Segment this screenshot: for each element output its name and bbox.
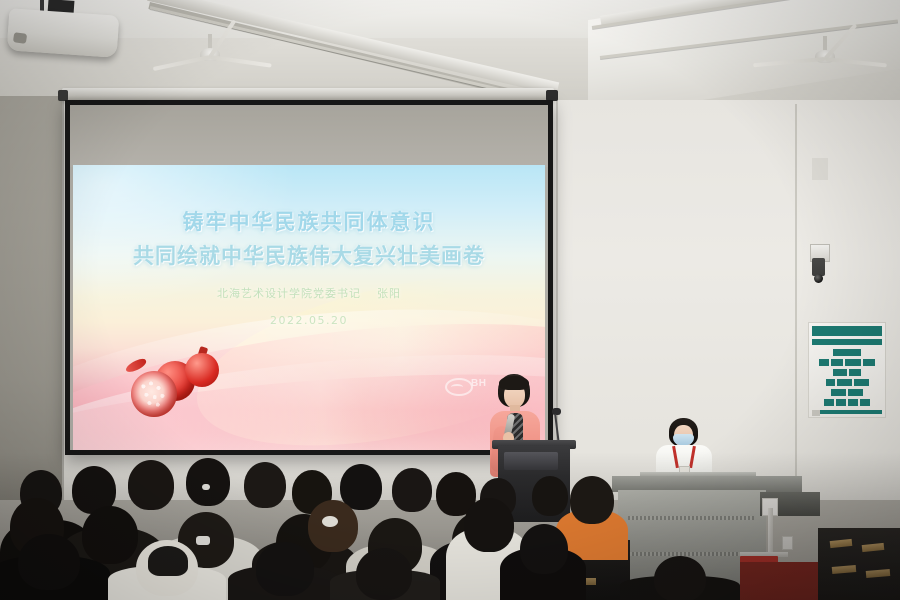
poster-row xyxy=(812,399,882,406)
poster-cell xyxy=(836,399,846,406)
fan-blade xyxy=(753,57,825,67)
left-wall-column xyxy=(0,96,62,500)
wall-notice-small xyxy=(812,158,828,180)
pomegranate-whole xyxy=(185,353,219,387)
projection-screen: 铸牢中华民族共同体意识 共同绘就中华民族伟大复兴壮美画卷 北海艺术设计学院党委书… xyxy=(65,100,553,455)
poster-cell xyxy=(824,399,834,406)
slide-presenter-org: 北海艺术设计学院党委书记 xyxy=(217,287,361,300)
wall-seam-left xyxy=(62,96,64,500)
poster-title-band xyxy=(812,326,882,336)
poster-row xyxy=(812,389,882,396)
slide-logo-oval-icon xyxy=(445,378,473,396)
audience-head xyxy=(18,534,80,590)
ceiling-projector xyxy=(7,8,120,58)
audience-head xyxy=(244,462,286,508)
projection-screen-surface: 铸牢中华民族共同体意识 共同绘就中华民族伟大复兴壮美画卷 北海艺术设计学院党委书… xyxy=(70,105,548,450)
poster-cell xyxy=(831,359,843,366)
poster-cell xyxy=(863,359,875,366)
poster-row xyxy=(812,379,882,386)
audience-head xyxy=(654,556,706,600)
audience-head xyxy=(186,458,230,506)
audience-head xyxy=(520,524,568,574)
audience-head xyxy=(128,460,174,510)
audience-head xyxy=(82,506,138,564)
pomegranate-seeds xyxy=(135,375,173,413)
poster-cell xyxy=(833,349,861,356)
fan-blade xyxy=(825,57,887,67)
slide-date: 2022.05.20 xyxy=(73,314,545,327)
poster-cell xyxy=(854,379,869,386)
audience-head xyxy=(256,542,314,596)
organization-chart-poster xyxy=(808,322,886,418)
slide-presenter-name: 张阳 xyxy=(377,287,401,300)
poster-cell xyxy=(819,359,829,366)
slide-presenter-line: 北海艺术设计学院党委书记张阳 xyxy=(73,285,545,301)
poster-corner-label xyxy=(812,410,820,416)
face-mask-icon xyxy=(673,434,694,445)
hair-clip xyxy=(196,536,210,545)
speaker-fringe xyxy=(499,376,529,390)
ceiling-fan-left xyxy=(150,34,270,74)
audience-head xyxy=(532,476,568,516)
poster-cell xyxy=(848,389,863,396)
slide-title-line-2: 共同绘就中华民族伟大复兴壮美画卷 xyxy=(73,239,545,273)
presentation-slide: 铸牢中华民族共同体意识 共同绘就中华民族伟大复兴壮美画卷 北海艺术设计学院党委书… xyxy=(73,165,545,450)
hair-clip xyxy=(322,516,338,527)
screen-blank-area xyxy=(70,105,548,167)
audience-head xyxy=(464,498,514,552)
poster-cell xyxy=(831,389,846,396)
poster-cell xyxy=(833,369,847,376)
wall-seam-right xyxy=(795,104,797,500)
hair-clip xyxy=(202,484,210,490)
poster-cell xyxy=(848,399,858,406)
ceiling-fan-right xyxy=(760,36,890,78)
fan-blade xyxy=(153,55,211,71)
poster-cell xyxy=(837,379,852,386)
poster-cell xyxy=(849,369,861,376)
audience-cap xyxy=(148,546,188,576)
poster-row xyxy=(812,359,882,366)
poster-subtitle-band xyxy=(812,339,882,345)
audience-head xyxy=(570,476,614,524)
poster-cell xyxy=(826,379,835,386)
slide-title-line-1: 铸牢中华民族共同体意识 xyxy=(73,205,545,239)
poster-row xyxy=(812,349,882,356)
projector-lens-icon xyxy=(13,32,27,44)
poster-cell xyxy=(860,399,870,406)
poster-footer-band xyxy=(812,410,882,414)
audience-head xyxy=(356,548,412,600)
poster-row xyxy=(812,369,882,376)
slide-text-block: 铸牢中华民族共同体意识 共同绘就中华民族伟大复兴壮美画卷 北海艺术设计学院党委书… xyxy=(73,205,545,327)
camera-lens-icon xyxy=(814,274,823,283)
audience-head xyxy=(392,468,432,512)
poster-cell xyxy=(845,359,861,366)
fan-blade xyxy=(210,55,272,68)
lecture-hall-photo: 铸牢中华民族共同体意识 共同绘就中华民族伟大复兴壮美画卷 北海艺术设计学院党委书… xyxy=(0,0,900,600)
